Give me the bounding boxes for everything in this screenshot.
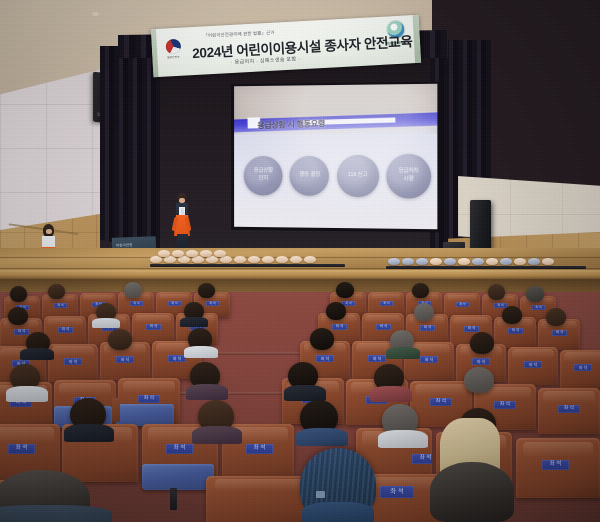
- slide-bubble-2-line1: 행동 결정: [299, 172, 320, 180]
- cpr-mannequin: [276, 256, 288, 263]
- audience-head: [10, 286, 27, 302]
- seat-cushion: [142, 464, 214, 490]
- seat[interactable]: 좌 석: [560, 350, 600, 388]
- slide-bubble-2: 행동 결정: [290, 156, 330, 196]
- slide-bubble-3-line1: 119 신고: [348, 172, 368, 180]
- audience-head: [8, 307, 28, 325]
- cpr-mannequin: [388, 258, 400, 265]
- seat-number-plate: 좌 석: [8, 444, 35, 454]
- cpr-mannequin: [430, 258, 442, 265]
- slide-bubble-4: 응급처치 시행: [386, 154, 431, 199]
- seat[interactable]: 좌 석: [132, 313, 174, 344]
- seat-number-plate: 좌 석: [558, 405, 580, 413]
- cpr-mannequin: [416, 258, 428, 265]
- audience-shoulders: [64, 424, 114, 442]
- slide-bubble-1-line1: 응급상황: [254, 168, 273, 176]
- seat-number-plate: 좌 석: [508, 328, 523, 334]
- seat-number-plate: 좌 석: [168, 301, 181, 306]
- slide-bubble-1-line2: 인지: [258, 175, 268, 182]
- stage-sign-label: 어린이안전: [116, 242, 133, 248]
- cpr-mannequin: [178, 256, 190, 263]
- cpr-mannequin: [402, 258, 414, 265]
- auditorium-photo: 행정안전부 학교안전공제회 「어린이안전관리에 관한 법률」근거 2024년 어…: [0, 0, 600, 522]
- audience-head: [412, 283, 429, 298]
- audience-shoulders: [92, 318, 120, 328]
- seat-number-plate: 좌 석: [380, 486, 414, 498]
- seat-number-plate: 좌 석: [376, 324, 391, 330]
- cpr-mannequin: [444, 258, 456, 265]
- banner-logo-left-caption: 행정안전부: [167, 55, 180, 60]
- cpr-mannequin: [262, 256, 274, 263]
- cpr-mannequin: [150, 256, 162, 263]
- seat[interactable]: [206, 476, 314, 522]
- cpr-mannequin: [248, 256, 260, 263]
- seat-number-plate: 좌 석: [206, 301, 219, 306]
- cpr-mannequin: [458, 258, 470, 265]
- audience-shoulders: [370, 386, 412, 402]
- audience-shoulders: [20, 348, 54, 360]
- seat-number-plate: 좌 석: [464, 326, 479, 332]
- audience-shoulders: [284, 385, 326, 401]
- seat-number-plate: 좌 석: [524, 361, 542, 368]
- audience-shoulders: [192, 426, 242, 444]
- foreground-person-left-shoulders: [0, 505, 112, 522]
- audience-head: [546, 308, 566, 326]
- beanie-logo-tag: [316, 491, 325, 498]
- cpr-mannequin: [192, 256, 204, 263]
- seat-number-plate: 좌 석: [246, 444, 273, 454]
- audience-head: [124, 282, 142, 298]
- seat-number-plate: 좌 석: [316, 355, 334, 362]
- seat-cushion: [116, 404, 174, 426]
- cpr-mannequin: [290, 256, 302, 263]
- seat-number-plate: 좌 석: [456, 302, 469, 307]
- seat[interactable]: 좌 석: [516, 438, 600, 498]
- cpr-mannequin: [206, 256, 218, 263]
- audience-head: [526, 286, 544, 302]
- audience-head: [464, 367, 494, 393]
- armrest: [112, 398, 120, 422]
- seat-number-plate: 좌 석: [116, 356, 134, 363]
- audience-head: [310, 328, 334, 350]
- assistant-face: [46, 229, 52, 234]
- seat-number-plate: 좌 석: [14, 329, 29, 335]
- seat[interactable]: 좌 석: [508, 347, 558, 385]
- banner-logo-left: 행정안전부: [159, 38, 187, 69]
- seat-number-plate: 좌 석: [472, 358, 490, 365]
- seat-number-plate: 좌 석: [54, 303, 67, 308]
- slide-bubble-1: 응급상황 인지: [244, 156, 283, 196]
- cpr-mannequin: [486, 258, 498, 265]
- beanie-brim: [302, 502, 374, 522]
- seat-number-plate: 좌 석: [138, 395, 160, 403]
- cpr-mannequin: [304, 256, 316, 263]
- cpr-mannequin: [186, 250, 198, 257]
- seat[interactable]: 좌 석: [538, 388, 600, 434]
- audience-shoulders: [180, 317, 208, 327]
- seat-number-plate: 좌 석: [420, 325, 435, 331]
- stage-curtain-left: [100, 46, 160, 252]
- cpr-mannequin: [158, 250, 170, 257]
- cpr-mannequin: [214, 250, 226, 257]
- seat-number-plate: 좌 석: [412, 454, 432, 464]
- seat-number-plate: 좌 석: [430, 398, 452, 406]
- audience-head: [502, 306, 522, 324]
- cpr-mannequin: [220, 256, 232, 263]
- presenter-on-stage: [172, 193, 192, 255]
- mannequin-row-front: [150, 256, 316, 263]
- audience-shoulders: [186, 384, 228, 400]
- seat[interactable]: 좌 석: [44, 316, 86, 347]
- ceiling-light-dot: [92, 12, 99, 16]
- slide-bubble-4-line2: 시행: [403, 176, 413, 184]
- audience-head: [336, 282, 354, 298]
- audience-head: [108, 329, 132, 350]
- seat-number-plate: 좌 석: [166, 444, 193, 454]
- seat-number-plate: 좌 석: [368, 355, 386, 362]
- seat-number-plate: 좌 석: [130, 301, 143, 306]
- audience-shoulders: [6, 386, 48, 402]
- slide-bubble-4-line1: 응급처치: [398, 168, 418, 176]
- korean-government-taegeuk-logo: [165, 39, 181, 55]
- audience-head: [198, 283, 215, 298]
- slide-bubble-3: 119 신고: [337, 155, 379, 197]
- training-mat-front: [150, 264, 345, 267]
- cpr-mannequin: [514, 258, 526, 265]
- seat-number-plate: 좌 석: [542, 460, 569, 470]
- projection-screen: 응급상황 시 행동요령 응급상황 인지 행동 결정 119 신고 응급처치 시행: [234, 84, 437, 229]
- cpr-mannequin: [172, 250, 184, 257]
- audience-head: [48, 284, 65, 299]
- seat-number-plate: 좌 석: [574, 364, 592, 371]
- audience-shoulders: [184, 346, 218, 358]
- slide-title: 응급상황 시 행동요령: [258, 117, 326, 131]
- audience-shoulders: [386, 347, 420, 359]
- seat-number-plate: 좌 석: [532, 305, 545, 310]
- seat-number-plate: 좌 석: [552, 330, 567, 336]
- cpr-mannequin: [200, 250, 212, 257]
- audience-head: [470, 332, 494, 354]
- slide-bubble-group: 응급상황 인지 행동 결정 119 신고 응급처치 시행: [244, 154, 431, 199]
- cpr-mannequin: [542, 258, 554, 265]
- mannequin-row-back: [158, 250, 226, 257]
- cpr-mannequin: [472, 258, 484, 265]
- foreground-person-beanie: [300, 448, 376, 522]
- seat-number-plate: 좌 석: [494, 401, 516, 409]
- audience-shoulders: [378, 430, 428, 448]
- seat-leg: [170, 488, 177, 510]
- seat-number-plate: 좌 석: [64, 358, 82, 365]
- seat-number-plate: 좌 석: [380, 301, 393, 306]
- seat-number-plate: 좌 석: [420, 356, 438, 363]
- cpr-mannequin: [500, 258, 512, 265]
- cpr-mannequin: [234, 256, 246, 263]
- mannequin-row-right: [388, 258, 554, 265]
- foreground-person-right-head: [430, 462, 514, 522]
- seat-number-plate: 좌 석: [146, 324, 161, 330]
- audience-head: [414, 303, 434, 321]
- seat-number-plate: 좌 석: [332, 324, 347, 330]
- cpr-mannequin: [164, 256, 176, 263]
- audience-head: [326, 302, 346, 320]
- stage-front-edge: [0, 270, 600, 279]
- audience-head: [488, 284, 505, 300]
- audience-shoulders: [296, 428, 348, 446]
- seat-number-plate: 좌 석: [58, 327, 73, 333]
- seat[interactable]: 좌 석: [48, 344, 98, 382]
- cpr-mannequin: [528, 258, 540, 265]
- training-mat-right: [386, 266, 586, 269]
